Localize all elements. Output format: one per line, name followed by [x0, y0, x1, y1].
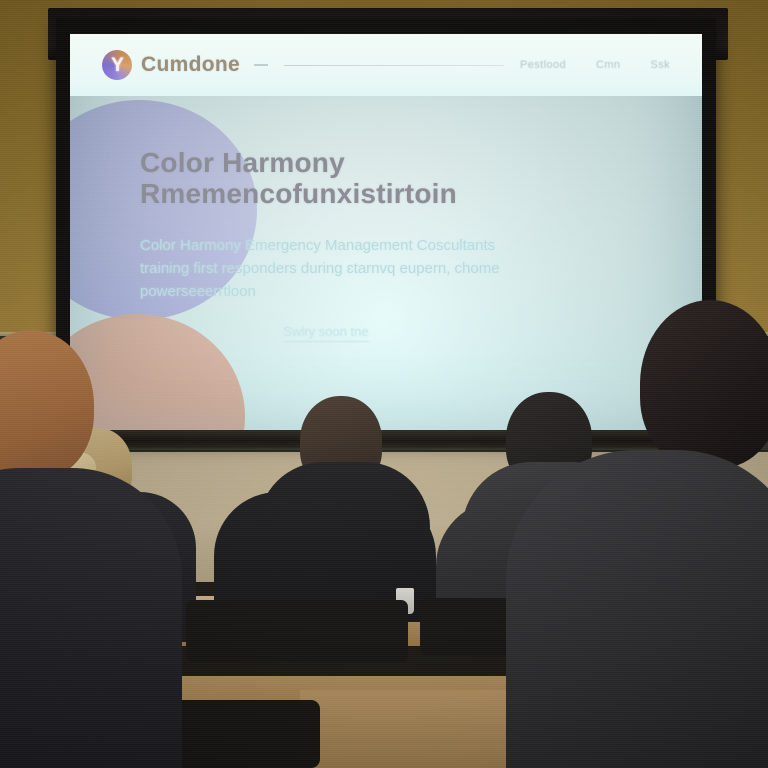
- slide-body: Color Harmony Rmemencofunxistirtoin Colo…: [70, 96, 702, 342]
- body-line-2: training first responders during ɛtarnvq…: [140, 257, 610, 280]
- person-curly-haired-man-body: [506, 450, 768, 768]
- nav-item-2[interactable]: Cmn: [596, 59, 620, 71]
- slide-cta-row: Swlry soon tne: [128, 323, 644, 342]
- chair-back-left: [186, 600, 408, 662]
- brand-name: Cumdone: [141, 53, 240, 77]
- body-line-3: powerseeerrtloon: [140, 280, 610, 303]
- slide-nav: Pestlood Cmn Ssk: [520, 59, 670, 71]
- logo-y-glyph: Y: [102, 50, 132, 80]
- header-dash-icon: [254, 64, 268, 66]
- person-red-haired-woman-body: [0, 468, 182, 768]
- slide-body-copy: Color Harmony Emergency Management Coscu…: [140, 234, 610, 304]
- projected-slide: Y Cumdone Pestlood Cmn Ssk Color Harmony…: [70, 34, 702, 432]
- classroom-scene: Y Cumdone Pestlood Cmn Ssk Color Harmony…: [0, 0, 768, 768]
- nav-item-3[interactable]: Ssk: [650, 59, 670, 71]
- nav-item-1[interactable]: Pestlood: [520, 59, 566, 71]
- body-line-1: Color Harmony Emergency Management Coscu…: [140, 234, 610, 257]
- slide-headline: Color Harmony Rmemencofunxistirtoin: [140, 148, 644, 210]
- header-divider-rule: [284, 65, 504, 66]
- slide-cta-link[interactable]: Swlry soon tne: [283, 324, 368, 342]
- slide-header-bar: Y Cumdone Pestlood Cmn Ssk: [70, 34, 702, 96]
- logo-circle-icon: Y: [102, 50, 132, 80]
- brand-logo[interactable]: Y Cumdone: [102, 50, 240, 80]
- projector-screen-bottom-bar: [60, 430, 712, 448]
